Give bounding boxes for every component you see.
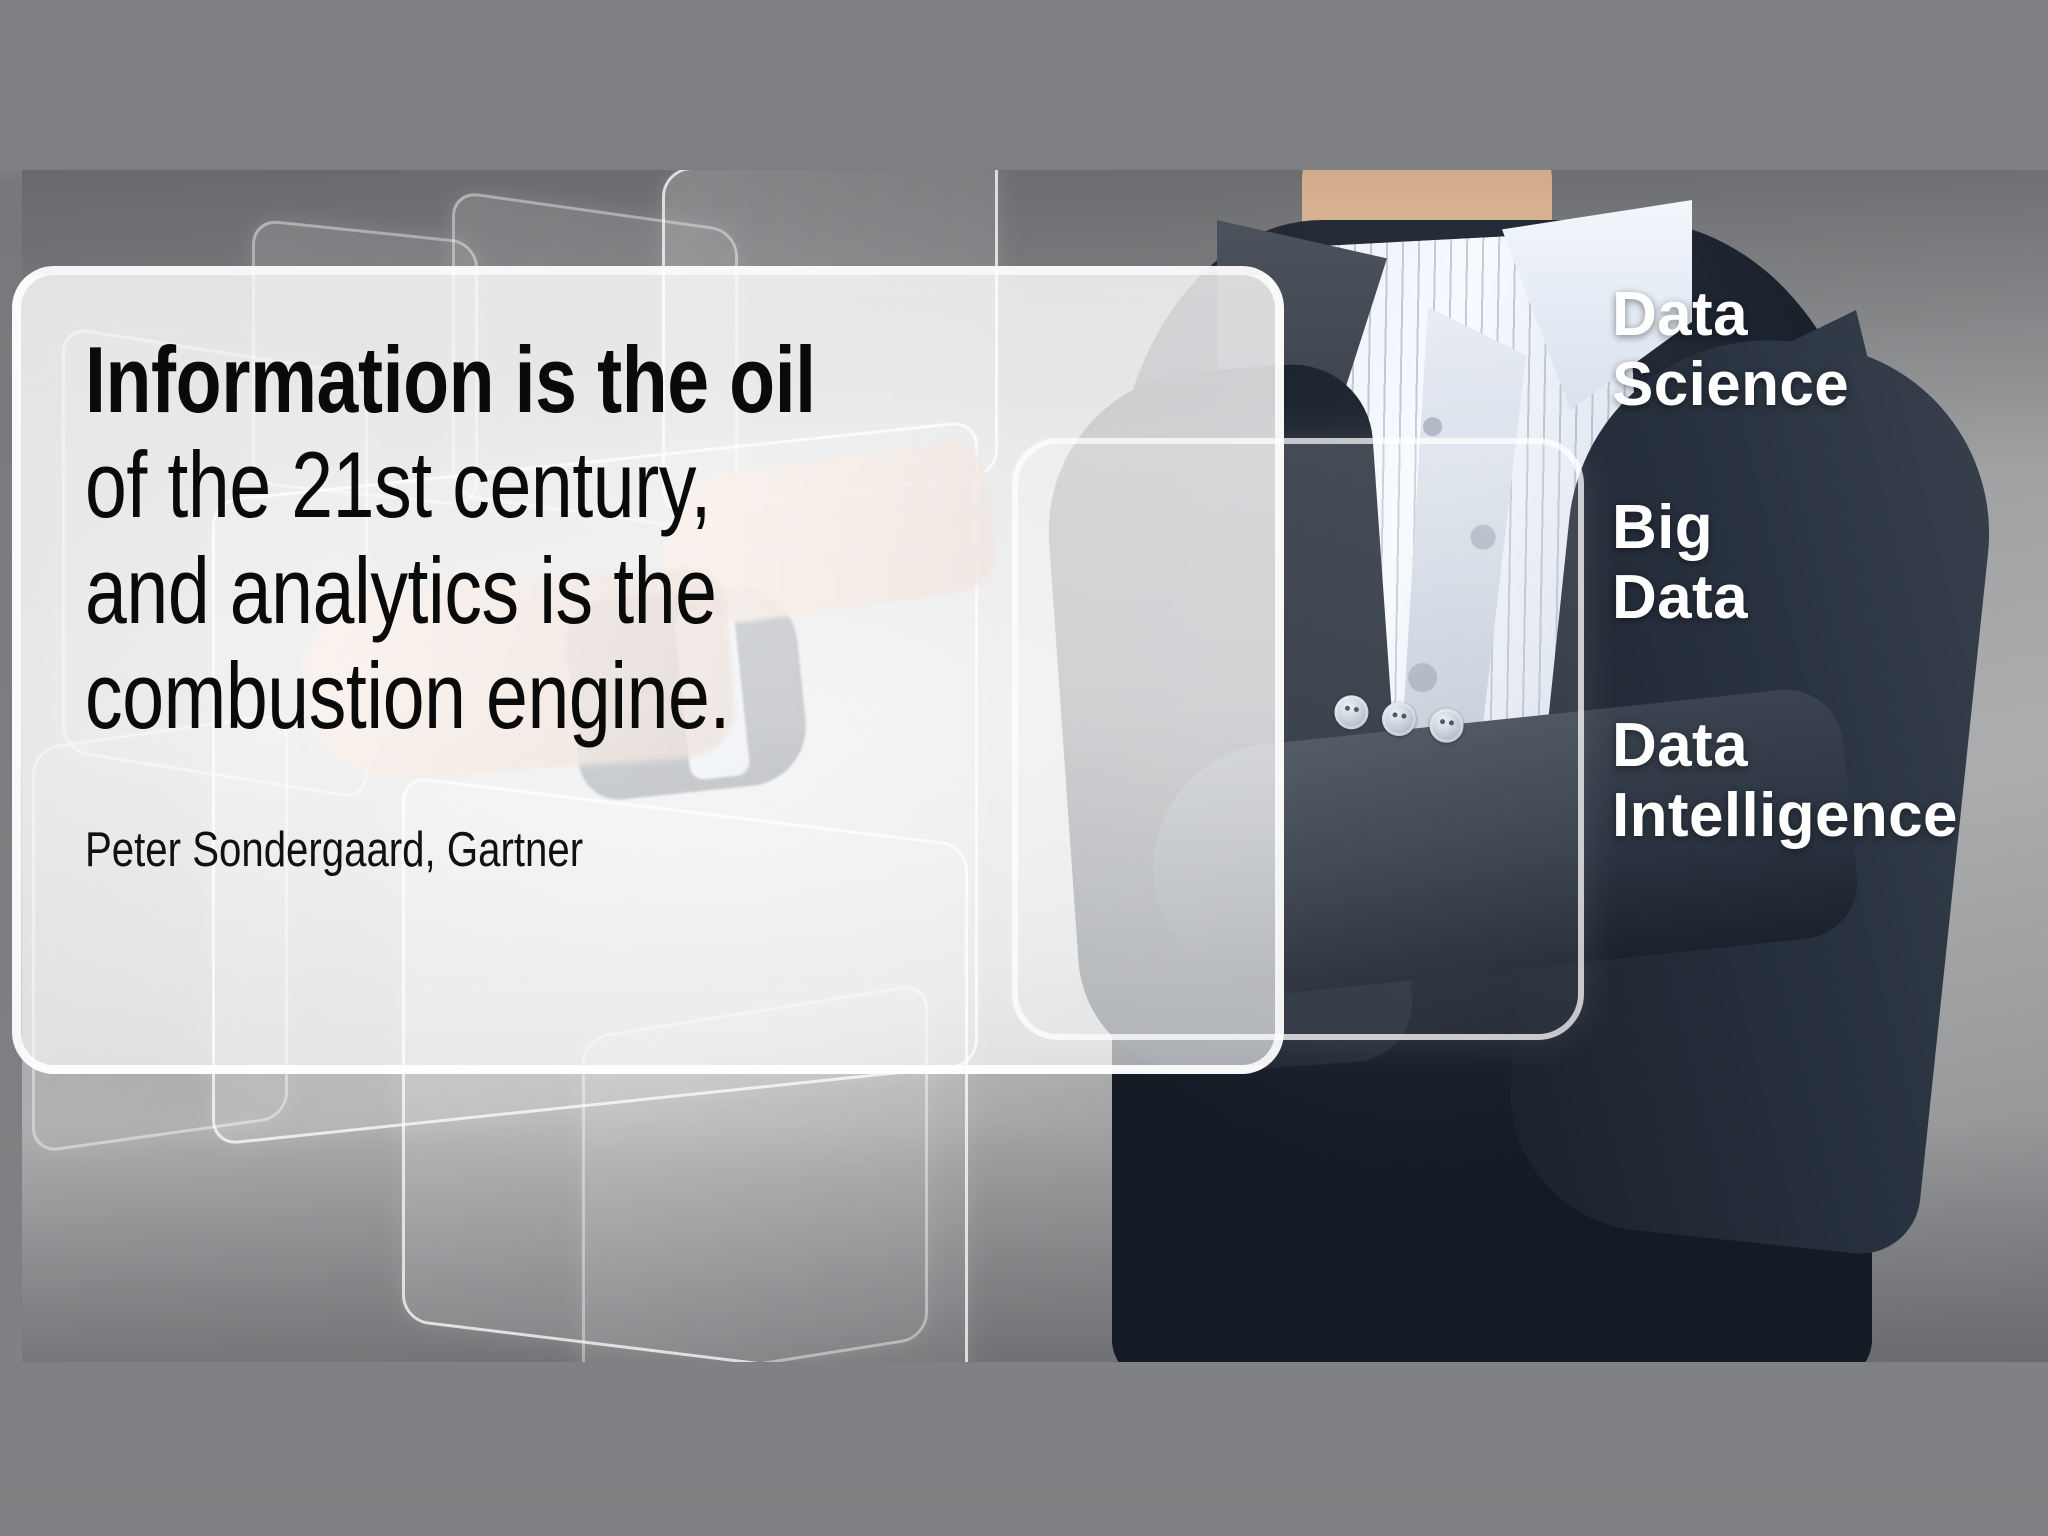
quote-line-2: of the 21st century, [85, 432, 1211, 537]
slide-root: Information is the oil of the 21st centu… [0, 0, 2048, 1536]
quote-line-3: and analytics is the [85, 538, 1211, 643]
quote-line-1: Information is the oil [85, 327, 1211, 432]
quote-panel: Information is the oil of the 21st centu… [12, 266, 1284, 1074]
keyword-data-intelligence: Data Intelligence [1612, 711, 2048, 851]
quote-text: Information is the oil of the 21st centu… [85, 327, 1211, 748]
keyword-big-data: Big Data [1612, 493, 2048, 633]
keyword-list: Data Science Big Data Data Intelligence [1612, 280, 2048, 851]
keyword-data-science: Data Science [1612, 280, 2048, 420]
quote-attribution: Peter Sondergaard, Gartner [85, 822, 1211, 878]
quote-line-4: combustion engine. [85, 643, 1211, 748]
